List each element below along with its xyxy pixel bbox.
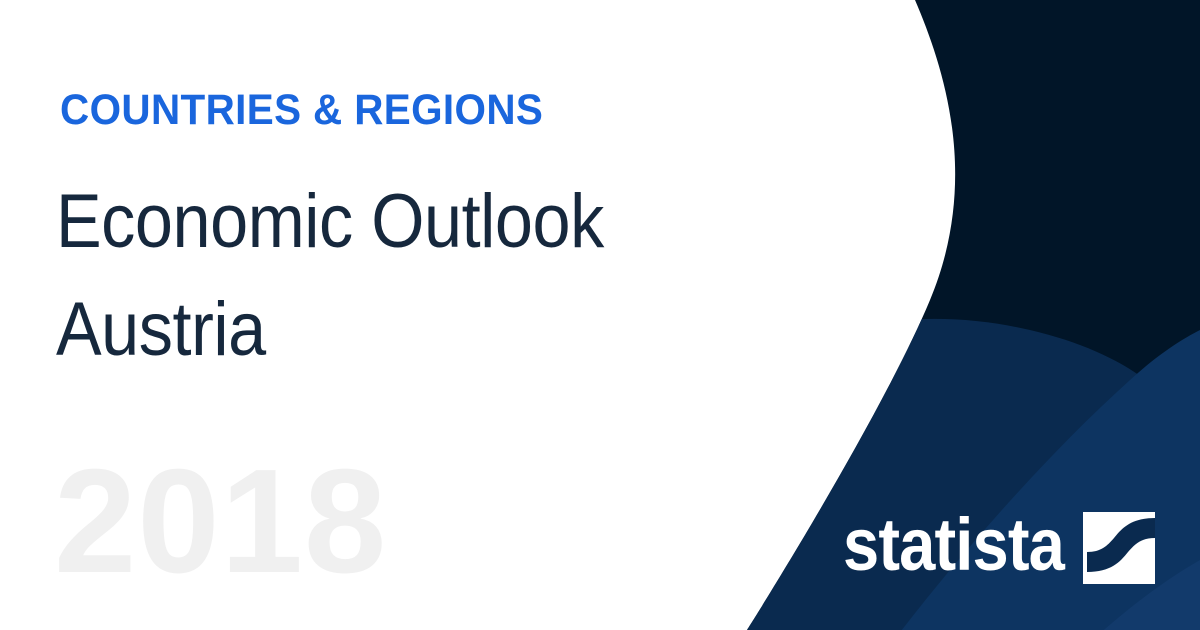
page-title-line-1: Economic Outlook [56,168,686,276]
statista-logo: statista [843,508,1094,582]
year-watermark: 2018 [54,448,387,596]
page-title: Economic Outlook Austria [56,168,686,384]
statista-s-curve-mark-icon [1083,512,1155,584]
statista-cover-card: COUNTRIES & REGIONS Economic Outlook Aus… [0,0,1200,630]
cover-content: COUNTRIES & REGIONS Economic Outlook Aus… [60,0,760,630]
page-title-line-2: Austria [56,276,686,384]
category-eyebrow: COUNTRIES & REGIONS [60,86,543,134]
statista-wordmark: statista [843,508,1064,582]
